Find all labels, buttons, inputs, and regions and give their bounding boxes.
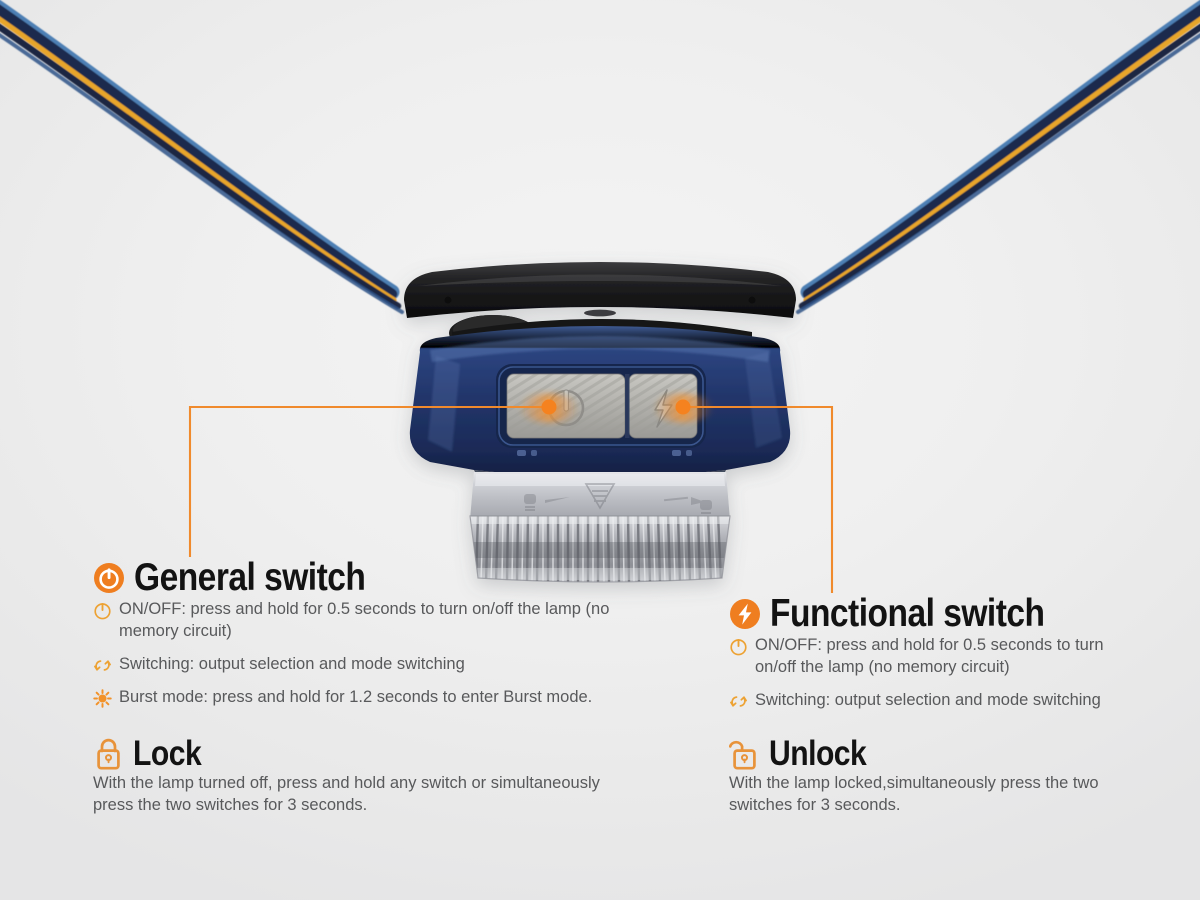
list-item: ON/OFF: press and hold for 0.5 seconds t…	[93, 599, 623, 643]
list-item-text: ON/OFF: press and hold for 0.5 seconds t…	[755, 635, 1129, 679]
general-switch-title: General switch	[134, 558, 365, 597]
lock-section: Lock With the lamp turned off, press and…	[93, 736, 613, 817]
unlock-title: Unlock	[769, 736, 866, 771]
unlock-heading: Unlock	[729, 736, 1144, 771]
general-switch-heading: General switch	[93, 558, 623, 597]
general-switch-section: General switch ON/OFF: press and hold fo…	[93, 558, 623, 720]
lock-heading: Lock	[93, 736, 613, 771]
power-icon	[729, 637, 748, 656]
list-item-text: Switching: output selection and mode swi…	[755, 690, 1101, 712]
callout-left	[190, 400, 557, 557]
functional-switch-heading: Functional switch	[729, 594, 1129, 633]
functional-switch-title: Functional switch	[770, 594, 1044, 633]
lightning-circle-icon	[729, 598, 761, 630]
list-item-text: ON/OFF: press and hold for 0.5 seconds t…	[119, 599, 623, 643]
infographic-canvas: General switch ON/OFF: press and hold fo…	[0, 0, 1200, 900]
unlock-body-text: With the lamp locked,simultaneously pres…	[729, 773, 1144, 817]
lock-title: Lock	[133, 736, 201, 771]
functional-switch-bullets: ON/OFF: press and hold for 0.5 seconds t…	[729, 635, 1129, 712]
padlock-open-icon	[729, 737, 760, 771]
list-item: Burst mode: press and hold for 1.2 secon…	[93, 687, 623, 709]
cycle-switch-icon	[93, 656, 112, 675]
list-item-text: Burst mode: press and hold for 1.2 secon…	[119, 687, 592, 709]
list-item: Switching: output selection and mode swi…	[729, 690, 1129, 712]
callout-right	[676, 400, 833, 593]
functional-switch-section: Functional switch ON/OFF: press and hold…	[729, 594, 1129, 723]
power-icon	[93, 601, 112, 620]
lock-body-text: With the lamp turned off, press and hold…	[93, 773, 613, 817]
list-item: ON/OFF: press and hold for 0.5 seconds t…	[729, 635, 1129, 679]
unlock-section: Unlock With the lamp locked,simultaneous…	[729, 736, 1144, 817]
general-switch-bullets: ON/OFF: press and hold for 0.5 seconds t…	[93, 599, 623, 709]
sun-burst-icon	[93, 689, 112, 708]
power-circle-icon	[93, 562, 125, 594]
padlock-closed-icon	[93, 737, 124, 771]
cycle-switch-icon	[729, 692, 748, 711]
list-item-text: Switching: output selection and mode swi…	[119, 654, 465, 676]
list-item: Switching: output selection and mode swi…	[93, 654, 623, 676]
